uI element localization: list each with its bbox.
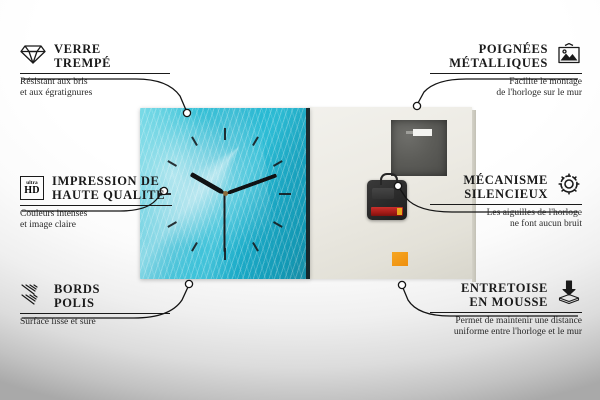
clock-tick (191, 136, 198, 146)
callout-rule (430, 204, 582, 205)
callout-title: MÉCANISME SILENCIEUX (463, 173, 548, 201)
callout-title: IMPRESSION DE HAUTE QUALITÉ (52, 174, 165, 202)
clock-hour-hand (189, 171, 226, 195)
callout-verre-trempe: VERRE TREMPÉ Résistant aux bris et aux é… (20, 42, 170, 99)
infographic-canvas: VERRE TREMPÉ Résistant aux bris et aux é… (0, 0, 600, 400)
callout-title: POIGNÉES MÉTALLIQUES (449, 42, 548, 70)
gear-icon (556, 172, 582, 201)
callout-rule (430, 73, 582, 74)
polished-edges-icon (20, 283, 46, 310)
product-illustration (140, 107, 472, 279)
diamond-icon (20, 43, 46, 70)
mechanism-battery (371, 207, 403, 216)
callout-rule (430, 312, 582, 313)
clock-tick (279, 193, 291, 195)
wall-frame-hook-icon (556, 43, 582, 70)
callout-description: Les aiguilles de l'horloge ne font aucun… (430, 208, 582, 230)
callout-title: BORDS POLIS (54, 282, 100, 310)
ultra-hd-icon-main-label: HD (24, 186, 40, 196)
clock-minute-hand (224, 173, 277, 196)
callout-mecanisme-silencieux: MÉCANISME SILENCIEUX Les aiguilles de l'… (430, 172, 582, 230)
leader-dot-bords (185, 280, 192, 287)
callout-rule (20, 73, 170, 74)
clock-tick (252, 241, 259, 251)
callout-rule (20, 313, 170, 314)
clock-tick (273, 221, 283, 228)
leader-dot-entretoise (398, 281, 405, 288)
clock-tick (191, 241, 198, 251)
clock-tick (167, 160, 177, 167)
callout-description: Facilite le montage de l'horloge sur le … (430, 77, 582, 99)
callout-description: Couleurs intenses et image claire (20, 209, 172, 231)
clock-second-hand (224, 194, 226, 252)
foam-spacer-pad (392, 252, 408, 266)
callout-description: Permet de maintenir une distance uniform… (430, 316, 582, 338)
clock-tick (252, 136, 259, 146)
callout-title: ENTRETOISE EN MOUSSE (461, 281, 548, 309)
callout-description: Surface lisse et sûre (20, 317, 170, 328)
clock-mechanism (367, 180, 407, 220)
callout-rule (20, 205, 172, 206)
callout-entretoise-en-mousse: ENTRETOISE EN MOUSSE Permet de maintenir… (430, 280, 582, 338)
clock-tick (273, 160, 283, 167)
ultra-hd-icon: ultra HD (20, 176, 44, 200)
hanger-slot (413, 129, 432, 136)
metal-hanger-plate (391, 120, 447, 176)
callout-poignees-metalliques: POIGNÉES MÉTALLIQUES Facilite le montage… (430, 42, 582, 99)
foam-spacer-arrow-icon (556, 280, 582, 309)
callout-bords-polis: BORDS POLIS Surface lisse et sûre (20, 282, 170, 328)
callout-title: VERRE TREMPÉ (54, 42, 111, 70)
mechanism-housing-detail (372, 188, 394, 199)
mechanism-hanging-loop (380, 173, 398, 185)
clock-tick (224, 128, 226, 140)
callout-impression-haute-qualite: ultra HD IMPRESSION DE HAUTE QUALITÉ Cou… (20, 174, 172, 231)
callout-description: Résistant aux bris et aux égratignures (20, 77, 170, 99)
clock-hub (223, 191, 228, 196)
